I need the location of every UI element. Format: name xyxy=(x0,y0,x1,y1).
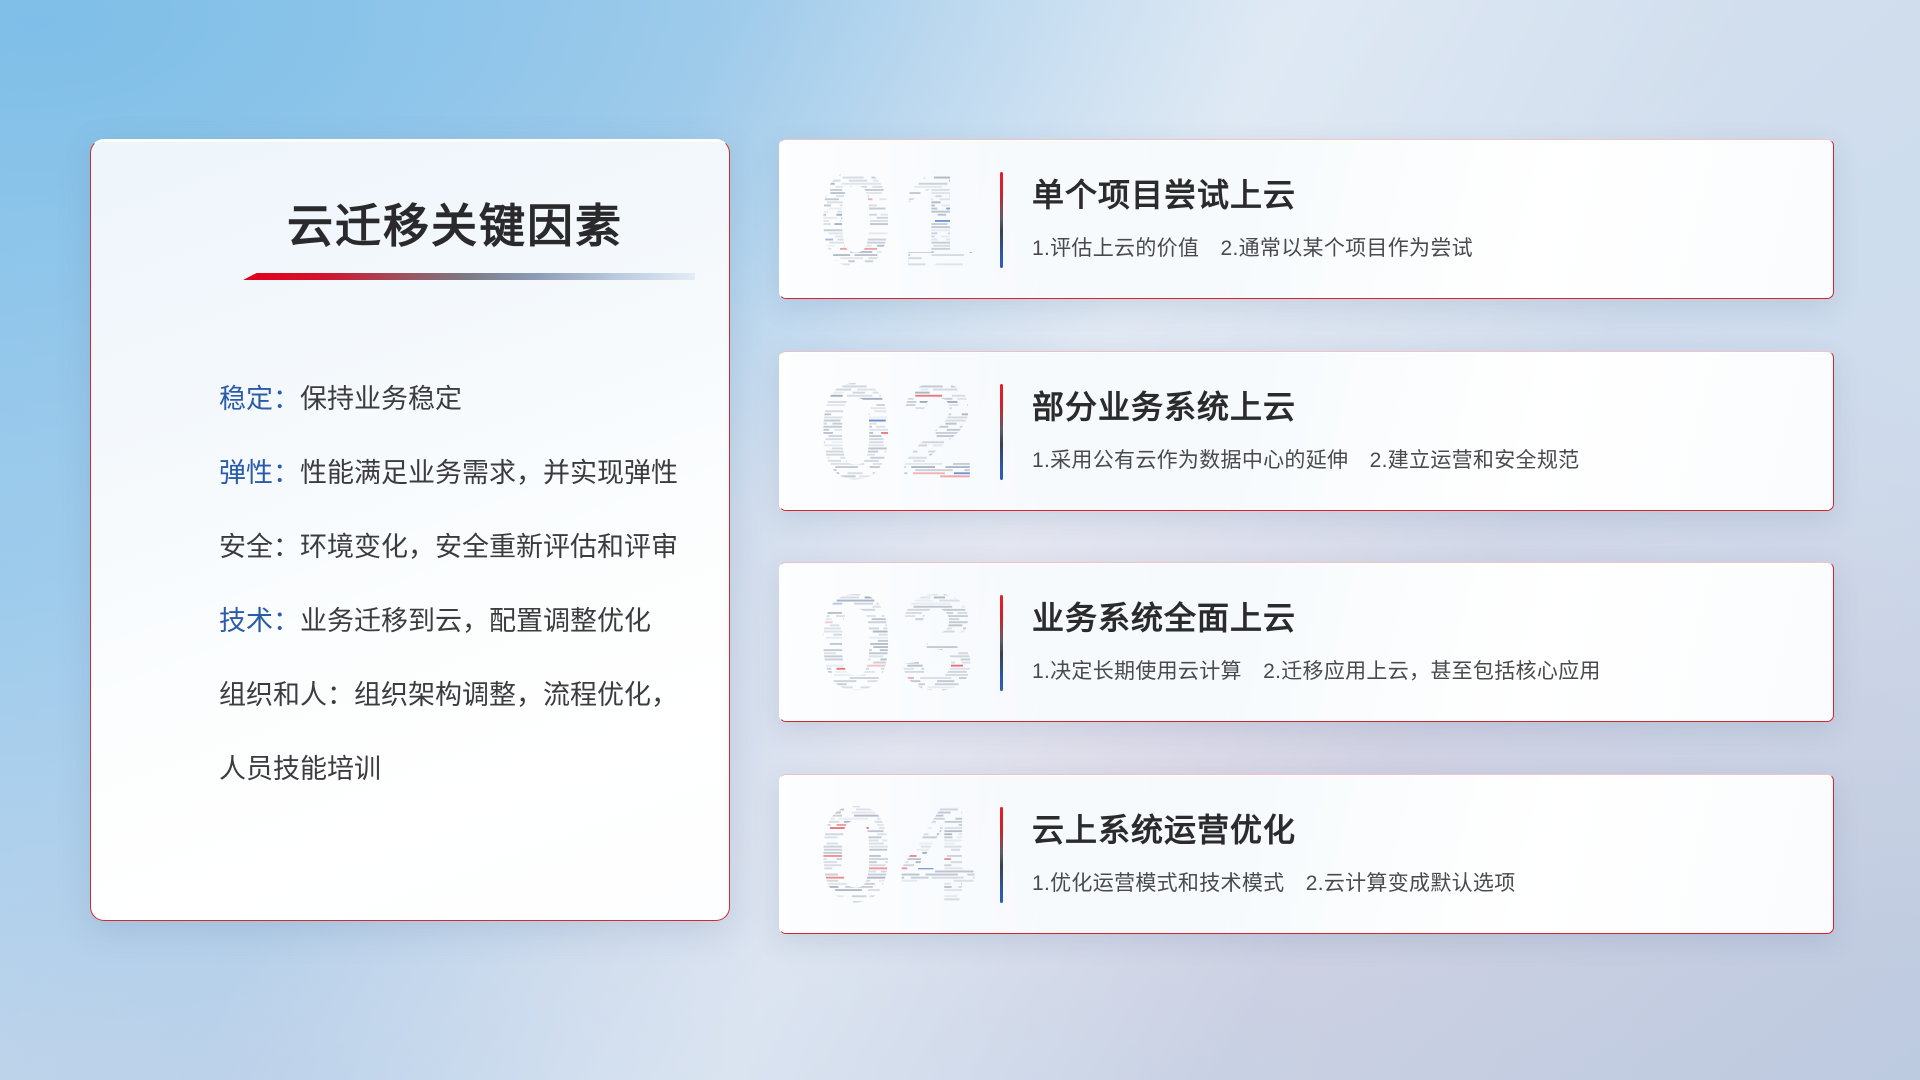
list-item: 技术：业务迁移到云，配置调整优化 xyxy=(219,584,693,658)
step-title: 单个项目尝试上云 xyxy=(1032,170,1296,216)
step-number-04-icon: 04 xyxy=(814,789,1004,921)
step-accent-bar xyxy=(1000,384,1003,480)
list-item: 弹性：性能满足业务需求，并实现弹性 xyxy=(219,436,693,510)
list-item: 稳定：保持业务稳定 xyxy=(219,362,693,436)
key-factors-list: 稳定：保持业务稳定 弹性：性能满足业务需求，并实现弹性 安全：环境变化，安全重新… xyxy=(219,362,693,806)
step-accent-bar xyxy=(1000,807,1003,903)
fact-value: 组织架构调整，流程优化， xyxy=(354,680,678,710)
fact-label: 弹性： xyxy=(219,458,300,488)
step-card-04[interactable]: 04 云上系统运营优化 1.优化运营模式和技术模式 2.云计算变成默认选项 xyxy=(779,774,1834,934)
fact-value: 保持业务稳定 xyxy=(300,384,462,414)
fact-value: 人员技能培训 xyxy=(219,754,381,784)
step-title: 部分业务系统上云 xyxy=(1032,382,1296,428)
fact-label: 稳定： xyxy=(219,384,300,414)
step-number-02-icon: 02 xyxy=(814,366,1004,498)
list-item: 安全：环境变化，安全重新评估和评审 xyxy=(219,510,693,584)
fact-value: 业务迁移到云，配置调整优化 xyxy=(300,606,651,636)
step-number-01-icon: 01 xyxy=(814,154,1004,286)
list-item: 组织和人：组织架构调整，流程优化， xyxy=(219,658,693,732)
fact-value: 性能满足业务需求，并实现弹性 xyxy=(300,458,678,488)
list-item: 人员技能培训 xyxy=(219,732,693,806)
step-description: 1.优化运营模式和技术模式 2.云计算变成默认选项 xyxy=(1032,867,1516,897)
step-card-01[interactable]: 01 单个项目尝试上云 1.评估上云的价值 2.通常以某个项目作为尝试 xyxy=(779,139,1834,299)
fact-label: 技术： xyxy=(219,606,300,636)
step-number-03-icon: 03 xyxy=(814,577,1004,709)
step-accent-bar xyxy=(1000,172,1003,268)
key-factors-card: 云迁移关键因素 稳定：保持业务稳定 弹性：性能满足业务需求，并实现弹性 安全：环… xyxy=(90,139,730,921)
step-description: 1.评估上云的价值 2.通常以某个项目作为尝试 xyxy=(1032,232,1473,262)
fact-label: 组织和人： xyxy=(219,680,354,710)
title-underline-accent xyxy=(243,273,695,280)
fact-label: 安全： xyxy=(219,532,300,562)
step-description: 1.决定长期使用云计算 2.迁移应用上云，甚至包括核心应用 xyxy=(1032,655,1601,685)
fact-value: 环境变化，安全重新评估和评审 xyxy=(300,532,678,562)
step-title: 业务系统全面上云 xyxy=(1032,593,1296,639)
step-title: 云上系统运营优化 xyxy=(1032,805,1296,851)
step-description: 1.采用公有云作为数据中心的延伸 2.建立运营和安全规范 xyxy=(1032,444,1579,474)
page-title: 云迁移关键因素 xyxy=(287,190,623,256)
step-card-03[interactable]: 03 业务系统全面上云 1.决定长期使用云计算 2.迁移应用上云，甚至包括核心应… xyxy=(779,562,1834,722)
step-accent-bar xyxy=(1000,595,1003,691)
step-card-02[interactable]: 02 部分业务系统上云 1.采用公有云作为数据中心的延伸 2.建立运营和安全规范 xyxy=(779,351,1834,511)
